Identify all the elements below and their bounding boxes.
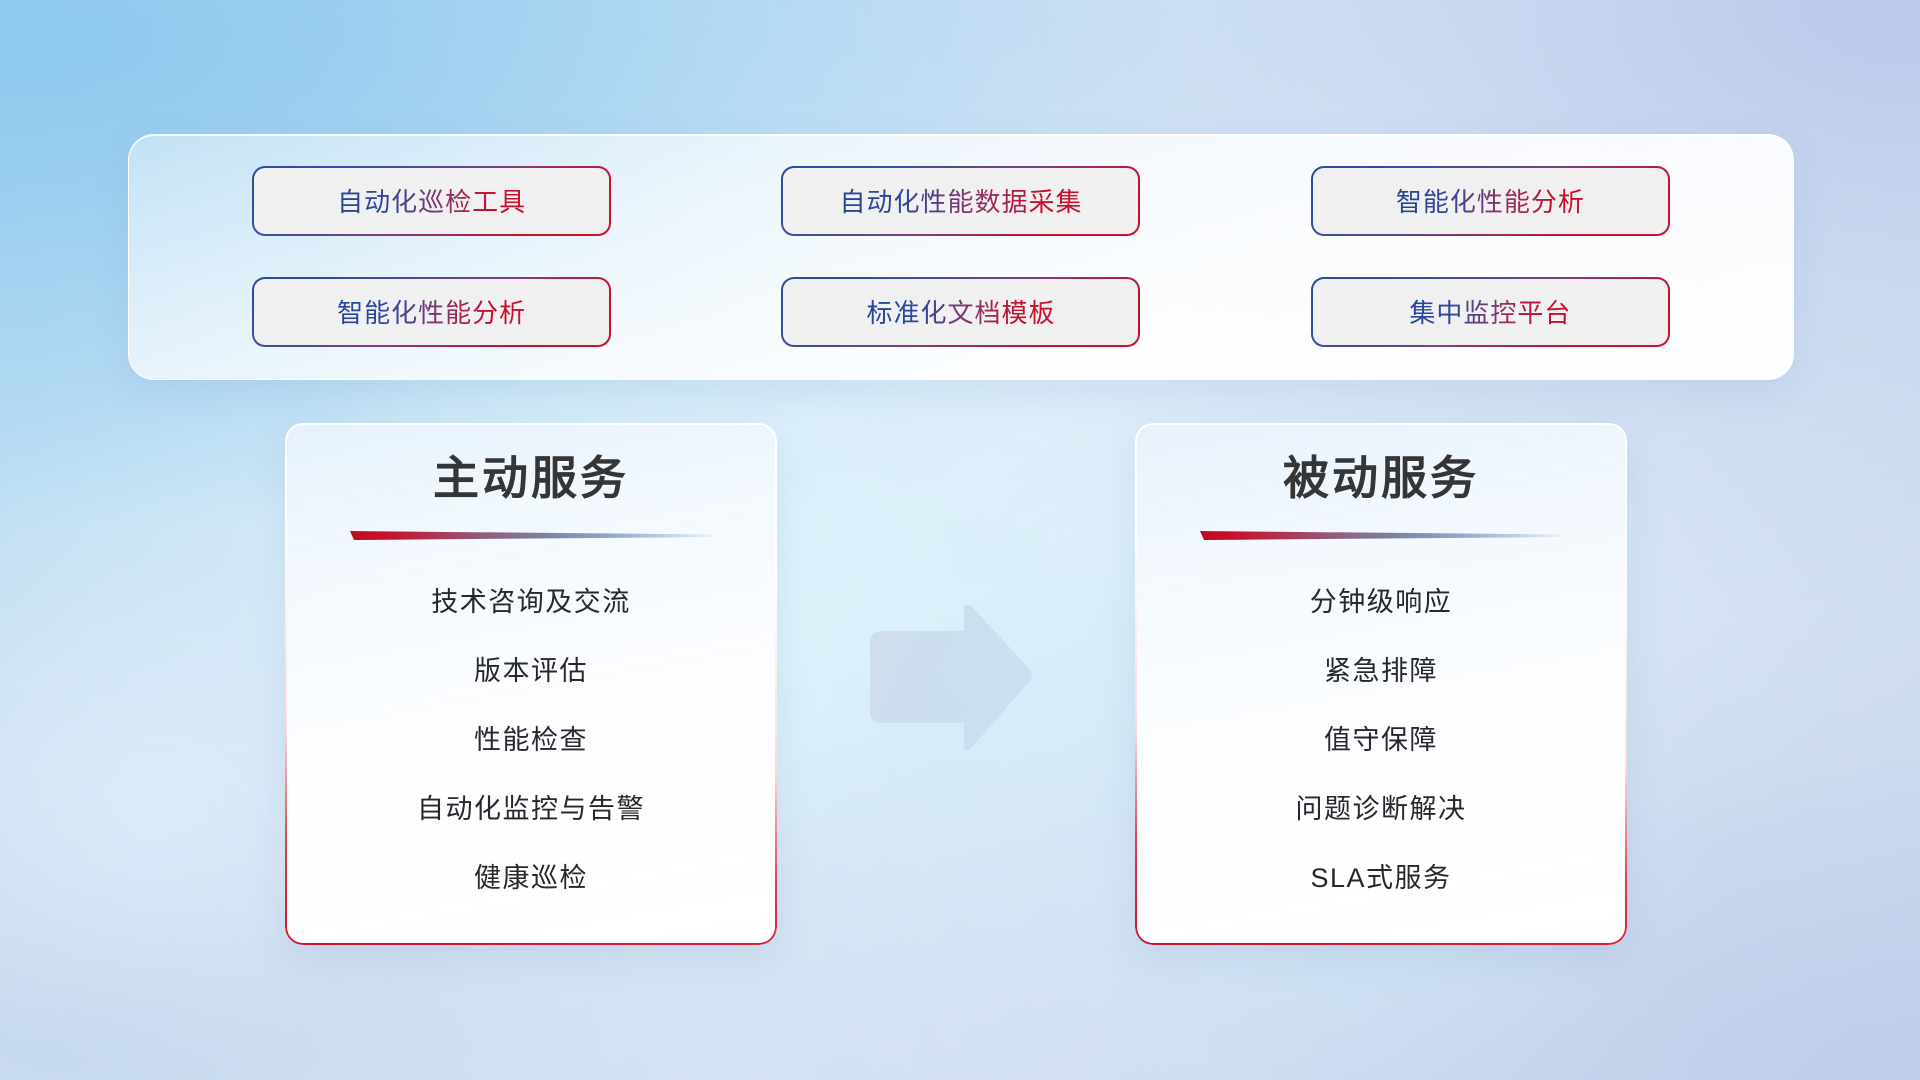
service-card-active[interactable]: 主动服务 [285, 423, 777, 945]
service-item: 性能检查 [474, 706, 588, 775]
capability-pill-intelligent-performance-analysis-2[interactable]: 智能化性能分析 [254, 279, 609, 345]
capabilities-grid: 自动化巡检工具 自动化性能数据采集 智能化性能分析 智能化性能分析 标准化文档模… [129, 135, 1793, 379]
service-card-active-title: 主动服务 [433, 451, 629, 505]
service-item: SLA式服务 [1310, 844, 1451, 913]
service-card-passive-list: 分钟级响应 紧急排障 值守保障 问题诊断解决 SLA式服务 [1135, 553, 1627, 945]
service-item: 自动化监控与告警 [417, 775, 645, 844]
service-card-active-inner: 主动服务 [285, 423, 777, 945]
service-item: 技术咨询及交流 [431, 568, 631, 637]
capability-pill-intelligent-performance-analysis-1[interactable]: 智能化性能分析 [1313, 168, 1668, 234]
service-item: 值守保障 [1324, 706, 1438, 775]
service-item: 分钟级响应 [1310, 568, 1453, 637]
slide-canvas: 自动化巡检工具 自动化性能数据采集 智能化性能分析 智能化性能分析 标准化文档模… [0, 0, 1920, 1080]
capability-pill-label: 自动化巡检工具 [337, 182, 526, 219]
capability-pill-centralized-monitoring-platform[interactable]: 集中监控平台 [1313, 279, 1668, 345]
service-item: 健康巡检 [474, 844, 588, 913]
capability-pill-standardized-document-template[interactable]: 标准化文档模板 [783, 279, 1138, 345]
right-arrow-icon [862, 605, 1034, 751]
capability-pill-automated-inspection-tool[interactable]: 自动化巡检工具 [254, 168, 609, 234]
service-item: 版本评估 [474, 637, 588, 706]
title-divider-passive [1200, 529, 1562, 543]
capabilities-panel: 自动化巡检工具 自动化性能数据采集 智能化性能分析 智能化性能分析 标准化文档模… [128, 134, 1794, 380]
capability-pill-label: 智能化性能分析 [1396, 182, 1585, 219]
capability-pill-label: 标准化文档模板 [866, 293, 1055, 330]
service-card-passive-inner: 被动服务 [1135, 423, 1627, 945]
capability-pill-label: 自动化性能数据采集 [839, 182, 1082, 219]
service-card-active-list: 技术咨询及交流 版本评估 性能检查 自动化监控与告警 健康巡检 [285, 553, 777, 945]
capability-pill-automated-performance-data-collection[interactable]: 自动化性能数据采集 [783, 168, 1138, 234]
service-item: 问题诊断解决 [1296, 775, 1467, 844]
title-divider-active [350, 529, 712, 543]
service-item: 紧急排障 [1324, 637, 1438, 706]
service-card-passive[interactable]: 被动服务 [1135, 423, 1627, 945]
capability-pill-label: 智能化性能分析 [337, 293, 526, 330]
service-card-passive-title: 被动服务 [1283, 451, 1479, 505]
capability-pill-label: 集中监控平台 [1409, 293, 1571, 330]
